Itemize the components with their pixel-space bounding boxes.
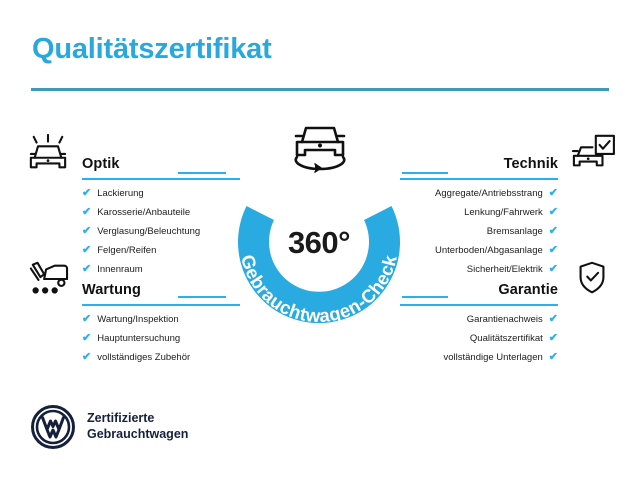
list-item: ✔Garantienachweis — [400, 314, 558, 325]
section-title-optik: Optik — [82, 156, 120, 174]
check-icon: ✔ — [549, 333, 558, 344]
section-divider-garantie — [400, 304, 558, 306]
list-item: ✔Lenkung/Fahrwerk — [400, 207, 558, 218]
wrench-car-icon — [22, 258, 74, 300]
list-item: ✔Hauptuntersuchung — [82, 333, 240, 344]
check-icon: ✔ — [549, 188, 558, 199]
check-icon: ✔ — [549, 352, 558, 363]
check-icon: ✔ — [82, 226, 91, 237]
header-divider — [31, 88, 609, 91]
check-icon: ✔ — [82, 314, 91, 325]
section-title-garantie: Garantie — [498, 282, 558, 300]
list-item-label: Verglasung/Beleuchtung — [97, 227, 200, 237]
check-icon: ✔ — [82, 188, 91, 199]
footer-line-1: Zertifizierte — [87, 411, 188, 427]
list-item-label: vollständige Unterlagen — [443, 353, 542, 363]
list-item-label: vollständiges Zubehör — [97, 353, 190, 363]
list-item: ✔vollständiges Zubehör — [82, 352, 240, 363]
car-front-shine-icon — [22, 132, 74, 174]
list-item-label: Lackierung — [97, 189, 143, 199]
list-item-label: Bremsanlage — [487, 227, 543, 237]
list-item: ✔vollständige Unterlagen — [400, 352, 558, 363]
section-title-technik: Technik — [504, 156, 558, 174]
badge-360-gebrauchtwagen-check: Gebrauchtwagen-Check 360° — [224, 148, 414, 338]
check-icon: ✔ — [82, 333, 91, 344]
page-title: Qualitätszertifikat — [32, 33, 272, 66]
list-item: ✔Lackierung — [82, 188, 240, 199]
list-item: ✔Felgen/Reifen — [82, 245, 240, 256]
list-item: ✔Wartung/Inspektion — [82, 314, 240, 325]
list-item-label: Karosserie/Anbauteile — [97, 208, 190, 218]
list-item: ✔Bremsanlage — [400, 226, 558, 237]
list-item-label: Garantienachweis — [467, 315, 543, 325]
list-item: ✔Aggregate/Antriebsstrang — [400, 188, 558, 199]
section-divider-optik — [82, 178, 240, 180]
list-item: ✔Verglasung/Beleuchtung — [82, 226, 240, 237]
list-item-label: Aggregate/Antriebsstrang — [435, 189, 543, 199]
check-icon: ✔ — [549, 226, 558, 237]
checklist-wartung: ✔Wartung/Inspektion ✔Hauptuntersuchung ✔… — [22, 314, 240, 363]
list-item-label: Hauptuntersuchung — [97, 334, 180, 344]
car-checkbox-icon — [566, 132, 618, 174]
section-wartung: Wartung ✔Wartung/Inspektion ✔Hauptunters… — [22, 256, 240, 371]
list-item: ✔Qualitätszertifikat — [400, 333, 558, 344]
section-divider-wartung — [82, 304, 240, 306]
footer-brand-text: Zertifizierte Gebrauchtwagen — [87, 411, 188, 442]
section-title-wartung: Wartung — [82, 282, 141, 300]
list-item-label: Qualitätszertifikat — [470, 334, 543, 344]
footer-brand: Zertifizierte Gebrauchtwagen — [31, 405, 188, 449]
list-item: ✔Unterboden/Abgasanlage — [400, 245, 558, 256]
check-icon: ✔ — [549, 245, 558, 256]
list-item-label: Lenkung/Fahrwerk — [464, 208, 543, 218]
check-icon: ✔ — [82, 245, 91, 256]
section-garantie: Garantie ✔Garantienachweis ✔Qualitätszer… — [400, 256, 618, 371]
list-item-label: Wartung/Inspektion — [97, 315, 179, 325]
car-front-rotate-icon — [284, 118, 356, 174]
list-item-label: Felgen/Reifen — [97, 246, 156, 256]
vw-roundel-icon — [31, 405, 75, 449]
badge-ring: Gebrauchtwagen-Check — [224, 148, 414, 338]
list-item: ✔Karosserie/Anbauteile — [82, 207, 240, 218]
list-item-label: Unterboden/Abgasanlage — [435, 246, 543, 256]
check-icon: ✔ — [82, 207, 91, 218]
check-icon: ✔ — [549, 314, 558, 325]
check-icon: ✔ — [549, 207, 558, 218]
section-divider-technik — [400, 178, 558, 180]
checklist-garantie: ✔Garantienachweis ✔Qualitätszertifikat ✔… — [400, 314, 618, 363]
footer-line-2: Gebrauchtwagen — [87, 427, 188, 443]
shield-check-icon — [566, 258, 618, 300]
check-icon: ✔ — [82, 352, 91, 363]
